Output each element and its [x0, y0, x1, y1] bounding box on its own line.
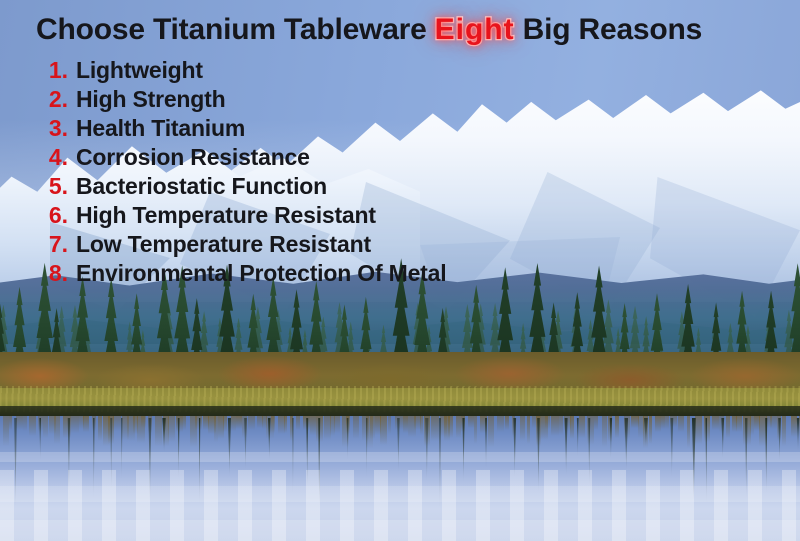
shoreline-reflection: [284, 416, 287, 433]
shoreline-reflection: [520, 416, 525, 441]
reason-item: 3.Health Titanium: [38, 114, 778, 143]
shoreline-reflection: [736, 416, 742, 432]
shoreline-reflection: [782, 416, 786, 446]
titanium-tableware-poster: Choose Titanium TablewareEightBig Reason…: [0, 0, 800, 541]
shoreline-reflection: [16, 416, 23, 430]
shoreline-reflection: [448, 416, 453, 438]
shoreline-reflection: [594, 416, 598, 430]
shoreline-reflection: [168, 416, 175, 442]
shoreline-reflection: [113, 416, 121, 431]
reason-number: 6.: [38, 201, 68, 230]
shoreline-reflection: [388, 416, 391, 434]
shoreline-reflection: [505, 416, 509, 430]
reason-number: 8.: [38, 259, 68, 288]
shoreline-reflection: [655, 416, 661, 432]
shoreline-reflection: [661, 416, 665, 429]
shoreline-reflection: [545, 416, 550, 429]
reason-number: 3.: [38, 114, 68, 143]
reason-text: Bacteriostatic Function: [76, 172, 327, 201]
shoreline-reflection: [695, 416, 702, 444]
shoreline-reflection: [559, 416, 563, 435]
shoreline-reflection: [770, 416, 777, 429]
shoreline-reflection: [431, 416, 439, 441]
reason-number: 2.: [38, 85, 68, 114]
title-after: Big Reasons: [523, 13, 703, 46]
lake-vertical-shimmer: [0, 470, 800, 541]
reason-number: 4.: [38, 143, 68, 172]
shoreline-reflection: [712, 416, 719, 430]
reason-item: 4.Corrosion Resistance: [38, 143, 778, 172]
shoreline-reflection: [83, 416, 89, 432]
shoreline-reflection: [570, 416, 574, 439]
shoreline-reflection: [141, 416, 146, 428]
shoreline-reflection: [665, 416, 669, 429]
shoreline-reflection: [9, 416, 12, 430]
shoreline-reflection: [687, 416, 690, 448]
shoreline-reflection: [791, 416, 797, 437]
shoreline-reflection: [615, 416, 619, 438]
shoreline-reflection: [71, 416, 79, 433]
shoreline-reflection: [353, 416, 359, 439]
reason-item: 1.Lightweight: [38, 56, 778, 85]
reason-number: 1.: [38, 56, 68, 85]
title-highlight-eight: Eight: [431, 13, 519, 47]
shoreline-reflection: [587, 416, 594, 445]
shoreline-reflection: [474, 416, 477, 444]
reason-item: 8.Environmental Protection Of Metal: [38, 259, 778, 288]
poster-title: Choose Titanium TablewareEightBig Reason…: [36, 13, 702, 47]
shoreline-reflection: [223, 416, 227, 432]
shoreline-reflection: [380, 416, 387, 445]
reason-item: 6.High Temperature Resistant: [38, 201, 778, 230]
reason-text: Corrosion Resistance: [76, 143, 310, 172]
shoreline-reflection: [602, 416, 607, 447]
shoreline-reflection: [29, 416, 36, 436]
reason-text: Environmental Protection Of Metal: [76, 259, 446, 288]
reason-text: High Temperature Resistant: [76, 201, 376, 230]
reason-item: 5.Bacteriostatic Function: [38, 172, 778, 201]
reason-number: 7.: [38, 230, 68, 259]
reason-text: Low Temperature Resistant: [76, 230, 371, 259]
shoreline-reflection: [649, 416, 652, 444]
shoreline-reflection: [155, 416, 162, 446]
title-before: Choose Titanium Tableware: [36, 13, 427, 46]
shoreline-reflection: [23, 416, 27, 431]
shoreline-reflection: [678, 416, 684, 432]
shoreline-reflection: [370, 416, 375, 439]
reason-text: High Strength: [76, 85, 225, 114]
reason-item: 2.High Strength: [38, 85, 778, 114]
shoreline-reflection: [420, 416, 423, 435]
shoreline-reflection: [497, 416, 504, 432]
shoreline-reflection: [248, 416, 255, 430]
reasons-list: 1.Lightweight2.High Strength3.Health Tit…: [38, 56, 778, 288]
lake-light-band: [0, 452, 800, 462]
reason-item: 7.Low Temperature Resistant: [38, 230, 778, 259]
shoreline-reflection: [334, 416, 340, 433]
reason-text: Health Titanium: [76, 114, 245, 143]
shoreline-reflection: [195, 416, 202, 430]
shoreline-reflection: [527, 416, 530, 444]
reason-number: 5.: [38, 172, 68, 201]
shoreline-reflection: [98, 416, 102, 441]
shoreline-reflection: [183, 416, 186, 430]
shoreline-reflection: [231, 416, 236, 431]
shoreline-reflection: [43, 416, 48, 438]
shoreline-reflection: [551, 416, 559, 436]
shoreline-reflection: [579, 416, 585, 438]
shoreline-reflection: [726, 416, 730, 438]
reason-text: Lightweight: [76, 56, 203, 85]
shoreline-reflection: [488, 416, 494, 447]
shoreline-reflection: [54, 416, 60, 444]
shoreline-reflection: [271, 416, 275, 433]
shoreline-reflection: [296, 416, 300, 430]
